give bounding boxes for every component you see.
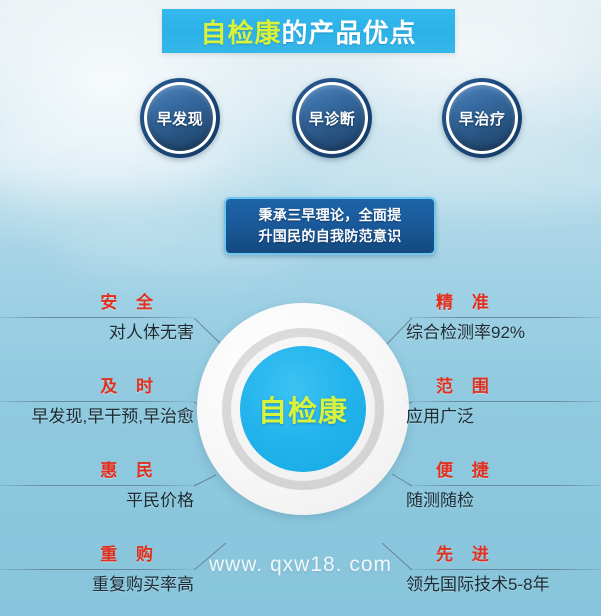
feature-description: 应用广泛 (406, 404, 601, 430)
feature-divider (0, 401, 194, 402)
slogan-line-2: 升国民的自我防范意识 (259, 226, 402, 247)
feature-divider (0, 317, 194, 318)
center-ring-outer: 自检康 (197, 303, 409, 515)
feature-item-repurchase: 重 购 重复购买率高 (0, 544, 194, 598)
feature-divider (406, 569, 601, 570)
page-title-banner: 自检康的产品优点 (162, 9, 455, 53)
feature-title: 重 购 (0, 544, 194, 566)
slogan-line-1: 秉承三早理论，全面提 (259, 205, 402, 226)
pillar-label: 早诊断 (309, 108, 356, 129)
feature-item-convenience: 便 捷 随测随检 (406, 460, 601, 514)
pillar-circle-early-diagnosis[interactable]: 早诊断 (292, 78, 372, 158)
center-brand-label: 自检康 (258, 388, 348, 430)
connector-left-3 (194, 475, 216, 486)
feature-description: 对人体无害 (0, 320, 194, 346)
connector-left-4 (194, 543, 226, 570)
feature-title: 精 准 (406, 292, 601, 314)
feature-item-advanced: 先 进 领先国际技术5-8年 (406, 544, 601, 598)
pillar-circle-early-detection[interactable]: 早发现 (140, 78, 220, 158)
feature-title: 先 进 (406, 544, 601, 566)
feature-title: 安 全 (0, 292, 194, 314)
feature-divider (406, 401, 601, 402)
center-brand-disc: 自检康 (240, 346, 366, 472)
feature-title: 惠 民 (0, 460, 194, 482)
feature-divider (0, 485, 194, 486)
feature-item-affordability: 惠 民 平民价格 (0, 460, 194, 514)
feature-divider (0, 569, 194, 570)
feature-divider (406, 485, 601, 486)
feature-divider (406, 317, 601, 318)
page-title-brand: 自检康 (200, 13, 281, 50)
feature-item-timeliness: 及 时 早发现,早干预,早治愈 (0, 376, 194, 430)
feature-description: 综合检测率92% (406, 320, 601, 346)
page-title-text: 的产品优点 (282, 13, 417, 50)
feature-description: 随测随检 (406, 488, 601, 514)
center-ring-mid: 自检康 (222, 328, 384, 490)
pillar-label: 早发现 (157, 108, 204, 129)
pillar-label: 早治疗 (459, 108, 506, 129)
feature-item-scope: 范 围 应用广泛 (406, 376, 601, 430)
feature-title: 便 捷 (406, 460, 601, 482)
center-ring-inner: 自检康 (231, 337, 375, 481)
feature-description: 平民价格 (0, 488, 194, 514)
pillar-circle-early-treatment[interactable]: 早治疗 (442, 78, 522, 158)
slogan-box: 秉承三早理论，全面提 升国民的自我防范意识 (224, 197, 436, 255)
feature-description: 重复购买率高 (0, 572, 194, 598)
feature-item-safety: 安 全 对人体无害 (0, 292, 194, 346)
feature-item-accuracy: 精 准 综合检测率92% (406, 292, 601, 346)
feature-title: 范 围 (406, 376, 601, 398)
connector-left-1 (194, 318, 222, 345)
infographic-canvas: 自检康的产品优点 早发现 早诊断 早治疗 秉承三早理论，全面提 升国民的自我防范… (0, 0, 601, 616)
feature-description: 早发现,早干预,早治愈 (0, 404, 194, 430)
feature-description: 领先国际技术5-8年 (406, 572, 601, 598)
feature-title: 及 时 (0, 376, 194, 398)
